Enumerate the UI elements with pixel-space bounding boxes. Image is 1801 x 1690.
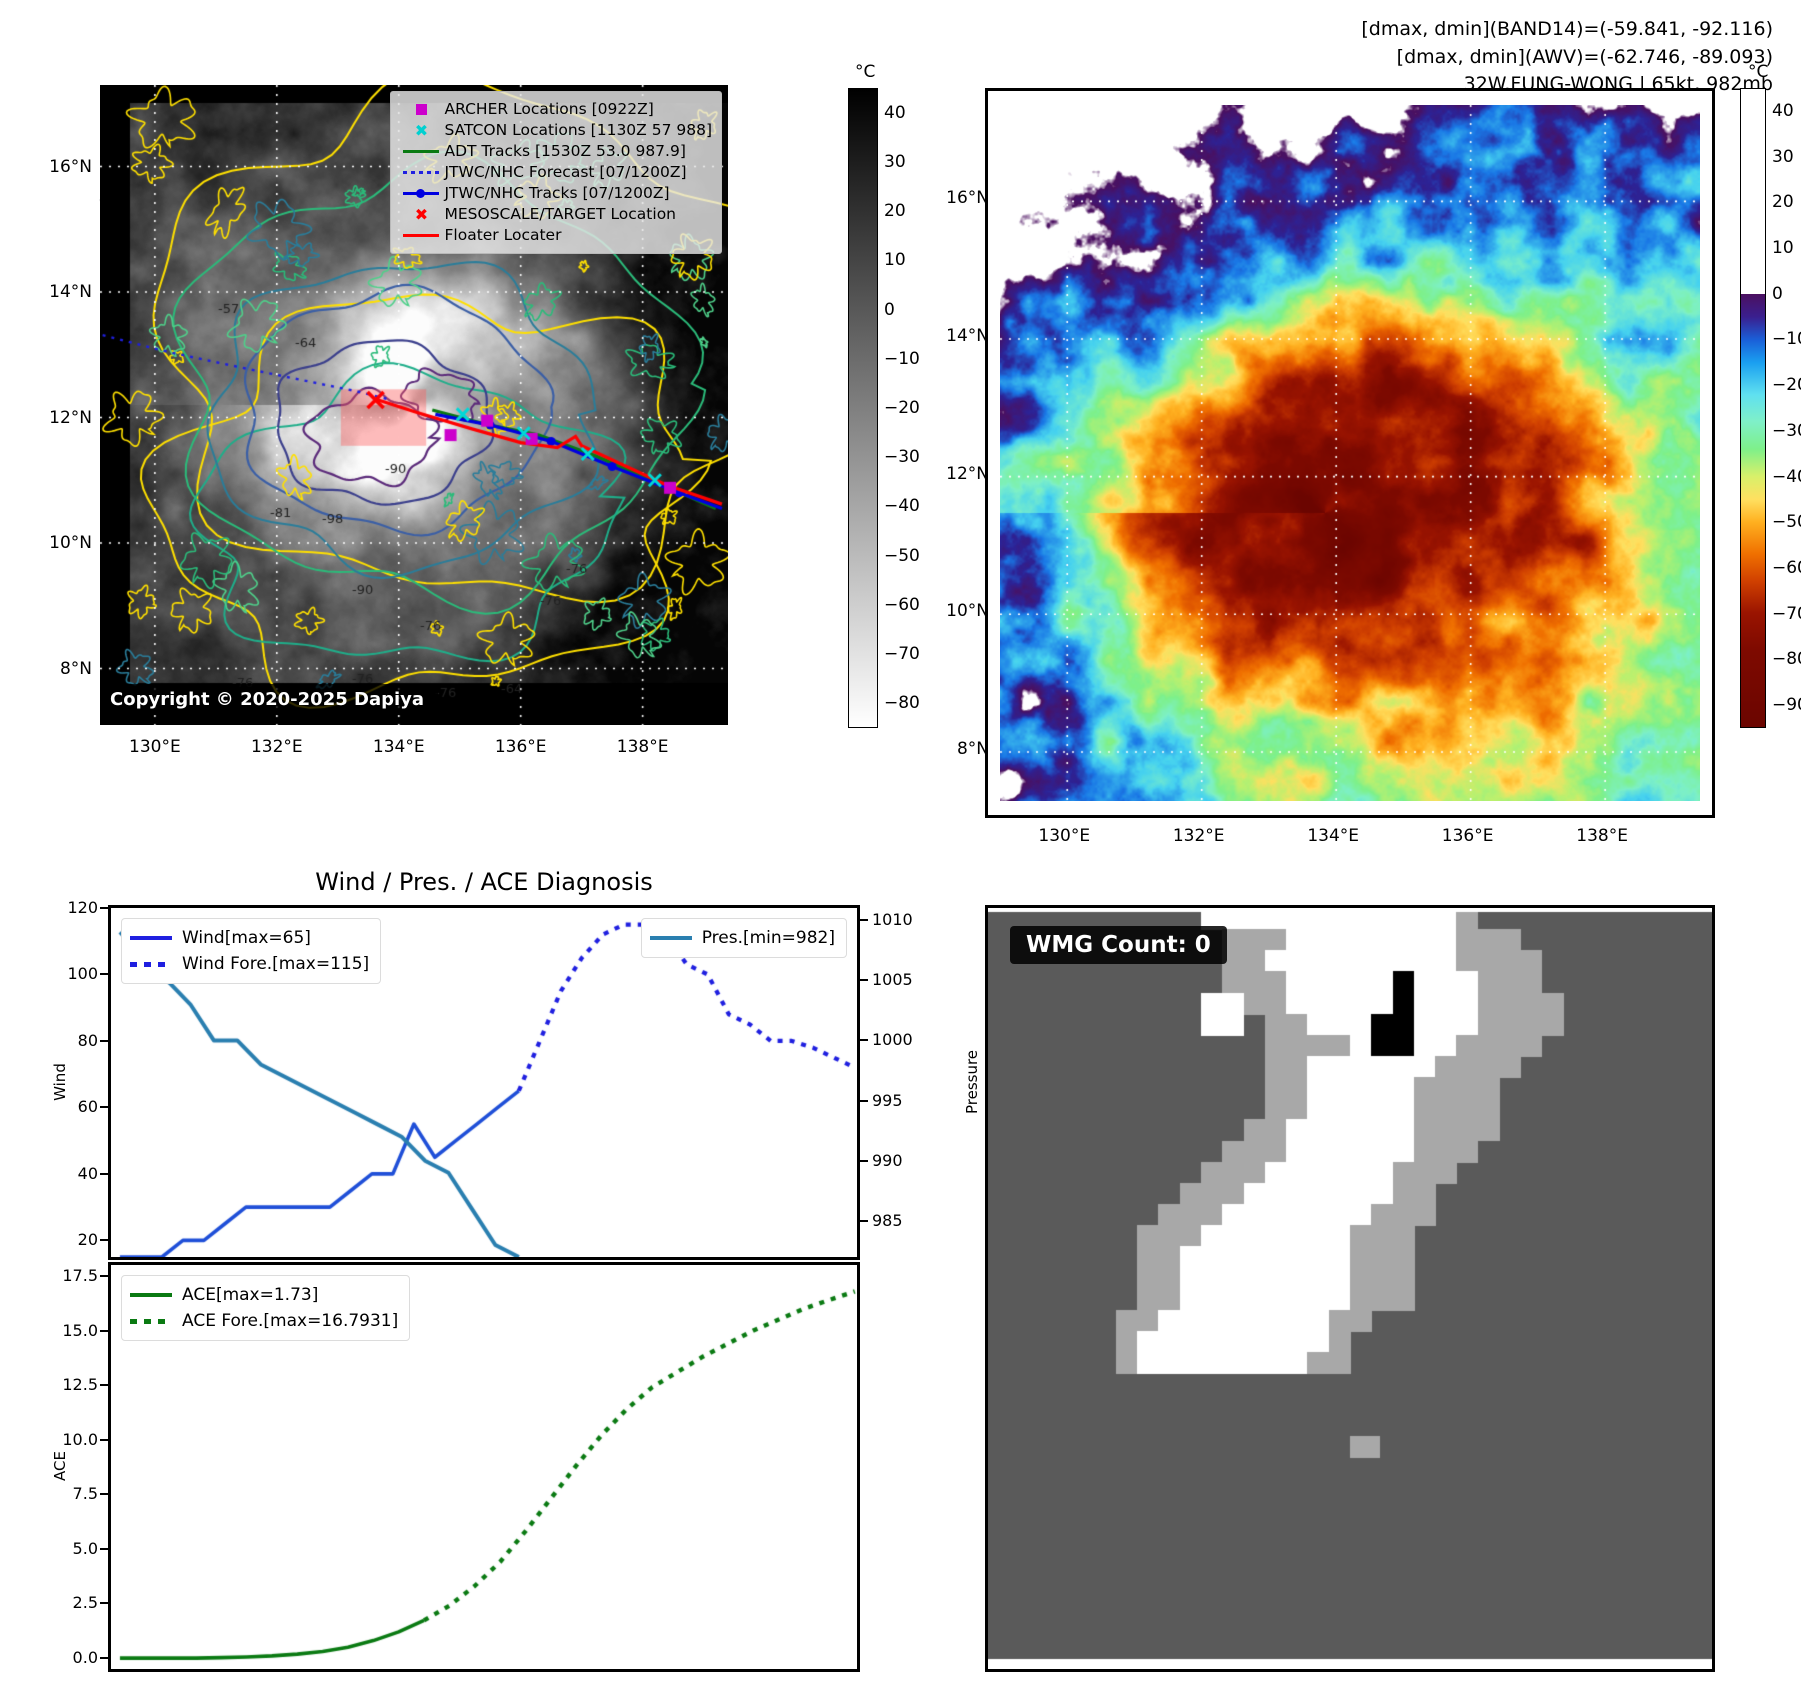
ace-y-tick: 15.0 bbox=[36, 1321, 98, 1340]
colorbar-tick: 30 bbox=[1772, 147, 1794, 167]
colorbar-tick: −10 bbox=[1772, 329, 1801, 349]
pressure-y-tickmark bbox=[858, 979, 868, 981]
legend-label: JTWC/NHC Forecast [07/1200Z] bbox=[444, 165, 686, 181]
ace-y-tickmark bbox=[100, 1602, 110, 1604]
color-colorbar bbox=[1740, 88, 1766, 728]
teal-solid-line-icon bbox=[650, 936, 702, 940]
legend-label: ARCHER Locations [0922Z] bbox=[444, 102, 653, 118]
legend-item-ace-forecast: ACE Fore.[max=16.7931] bbox=[130, 1308, 398, 1334]
ace-y-tickmark bbox=[100, 1384, 110, 1386]
wmg-count-badge: WMG Count: 0 bbox=[1010, 926, 1227, 964]
pressure-y-tick: 995 bbox=[872, 1091, 934, 1110]
wind-y-tickmark bbox=[100, 1239, 110, 1241]
pressure-y-tickmark bbox=[858, 1100, 868, 1102]
green-solid-line-icon bbox=[130, 1293, 182, 1297]
wind-y-tick: 120 bbox=[36, 898, 98, 917]
stats-awv: [dmax, dmin](AWV)=(-62.746, -89.093) bbox=[1361, 44, 1773, 72]
ace-y-tickmark bbox=[100, 1657, 110, 1659]
ace-y-tickmark bbox=[100, 1548, 110, 1550]
ace-y-tick: 0.0 bbox=[36, 1648, 98, 1667]
lat-tick-label: 8°N bbox=[22, 659, 92, 679]
colorbar-tick: −40 bbox=[1772, 467, 1801, 487]
pressure-y-tickmark bbox=[858, 919, 868, 921]
wind-chart-legend: Wind[max=65] Wind Fore.[max=115] bbox=[121, 918, 381, 984]
ace-chart[interactable]: ACE[max=1.73] ACE Fore.[max=16.7931] bbox=[108, 1262, 860, 1672]
wind-pressure-chart[interactable]: Wind[max=65] Wind Fore.[max=115] Pres.[m… bbox=[108, 905, 860, 1260]
wind-y-tickmark bbox=[100, 907, 110, 909]
ace-chart-legend: ACE[max=1.73] ACE Fore.[max=16.7931] bbox=[121, 1275, 410, 1341]
legend-item-satcon: ✖ SATCON Locations [1130Z 57 988] bbox=[398, 120, 712, 141]
colorbar-tick: −50 bbox=[884, 546, 920, 566]
colorbar-tick: −90 bbox=[1772, 695, 1801, 715]
stats-band14: [dmax, dmin](BAND14)=(-59.841, -92.116) bbox=[1361, 16, 1773, 44]
legend-item-floater: Floater Locater bbox=[398, 225, 712, 246]
legend-label: Pres.[min=982] bbox=[702, 930, 835, 947]
lat-tick-label: 16°N bbox=[22, 157, 92, 177]
colorbar-tick: −40 bbox=[884, 496, 920, 516]
colorbar-tick: −80 bbox=[1772, 649, 1801, 669]
awv-inner bbox=[1000, 105, 1700, 801]
pressure-chart-legend: Pres.[min=982] bbox=[641, 918, 847, 958]
colorbar-tick: −80 bbox=[884, 693, 920, 713]
ace-y-tick: 5.0 bbox=[36, 1539, 98, 1558]
legend-label: JTWC/NHC Tracks [07/1200Z] bbox=[444, 186, 669, 202]
wind-y-tick: 40 bbox=[36, 1164, 98, 1183]
legend-item-archer: ARCHER Locations [0922Z] bbox=[398, 99, 712, 120]
lon-tick-label: 134°E bbox=[1293, 826, 1373, 846]
legend-label: SATCON Locations [1130Z 57 988] bbox=[444, 123, 712, 139]
legend-item-ace: ACE[max=1.73] bbox=[130, 1282, 398, 1308]
green-dotted-line-icon bbox=[130, 1319, 182, 1324]
legend-label: Wind[max=65] bbox=[182, 930, 311, 947]
lat-tick-label: 10°N bbox=[919, 601, 989, 621]
ace-y-tickmark bbox=[100, 1439, 110, 1441]
copyright-notice: Copyright © 2020-2025 Dapiya bbox=[100, 684, 438, 715]
wind-y-tick: 100 bbox=[36, 964, 98, 983]
colorbar-tick: 0 bbox=[884, 300, 895, 320]
ace-y-tickmark bbox=[100, 1493, 110, 1495]
lon-tick-label: 130°E bbox=[1024, 826, 1104, 846]
pressure-axis-label: Pressure bbox=[963, 1022, 981, 1142]
legend-item-adt: ADT Tracks [1530Z 53.0 987.9] bbox=[398, 141, 712, 162]
lat-tick-label: 16°N bbox=[919, 188, 989, 208]
colorbar-tick: −60 bbox=[1772, 558, 1801, 578]
colorbar-tick: −20 bbox=[1772, 375, 1801, 395]
legend-item-pressure: Pres.[min=982] bbox=[650, 925, 835, 951]
color-colorbar-unit: °C bbox=[1748, 62, 1768, 82]
colorbar-tick: 0 bbox=[1772, 284, 1783, 304]
blue-dotted-line-icon bbox=[398, 171, 444, 174]
lon-tick-label: 138°E bbox=[1562, 826, 1642, 846]
ace-y-tick: 2.5 bbox=[36, 1593, 98, 1612]
awv-satellite-map[interactable] bbox=[985, 88, 1715, 818]
lat-tick-label: 12°N bbox=[22, 408, 92, 428]
colorbar-tick: 40 bbox=[884, 103, 906, 123]
colorbar-tick: 20 bbox=[884, 201, 906, 221]
lon-tick-label: 138°E bbox=[603, 737, 683, 757]
blue-solid-line-icon bbox=[130, 936, 182, 940]
legend-item-mesoscale: ✖ MESOSCALE/TARGET Location bbox=[398, 204, 712, 225]
lat-tick-label: 14°N bbox=[22, 282, 92, 302]
wind-pres-ace-title: Wind / Pres. / ACE Diagnosis bbox=[108, 868, 860, 896]
lon-tick-label: 136°E bbox=[481, 737, 561, 757]
wind-y-tickmark bbox=[100, 1106, 110, 1108]
pressure-y-tickmark bbox=[858, 1039, 868, 1041]
blue-dotted-line-icon bbox=[130, 962, 182, 967]
legend-item-jtwc-tracks: JTWC/NHC Tracks [07/1200Z] bbox=[398, 183, 712, 204]
grey-colorbar-unit: °C bbox=[855, 62, 875, 82]
colorbar-tick: 30 bbox=[884, 152, 906, 172]
ace-y-tick: 12.5 bbox=[36, 1375, 98, 1394]
wind-axis-label: Wind bbox=[51, 1022, 69, 1142]
legend-item-forecast: JTWC/NHC Forecast [07/1200Z] bbox=[398, 162, 712, 183]
ace-axis-label: ACE bbox=[51, 1406, 69, 1526]
stats-header: [dmax, dmin](BAND14)=(-59.841, -92.116) … bbox=[1361, 16, 1773, 99]
lon-tick-label: 134°E bbox=[359, 737, 439, 757]
ir-satellite-map[interactable]: ARCHER Locations [0922Z] ✖ SATCON Locati… bbox=[100, 85, 728, 725]
green-solid-line-icon bbox=[398, 150, 444, 153]
pressure-y-tick: 1000 bbox=[872, 1030, 934, 1049]
legend-label: ACE[max=1.73] bbox=[182, 1287, 318, 1304]
colorbar-tick: 20 bbox=[1772, 192, 1794, 212]
colorbar-tick: −70 bbox=[1772, 604, 1801, 624]
wind-y-tickmark bbox=[100, 1173, 110, 1175]
colorbar-tick: −10 bbox=[884, 349, 920, 369]
lat-tick-label: 10°N bbox=[22, 533, 92, 553]
pressure-y-tickmark bbox=[858, 1160, 868, 1162]
lat-tick-label: 14°N bbox=[919, 326, 989, 346]
wmg-panel[interactable]: WMG Count: 0 bbox=[985, 905, 1715, 1672]
legend-item-wind: Wind[max=65] bbox=[130, 925, 369, 951]
wind-y-tickmark bbox=[100, 1040, 110, 1042]
colorbar-tick: 10 bbox=[884, 250, 906, 270]
ace-y-tickmark bbox=[100, 1330, 110, 1332]
pressure-y-tick: 990 bbox=[872, 1151, 934, 1170]
legend-item-wind-forecast: Wind Fore.[max=115] bbox=[130, 951, 369, 977]
lon-tick-label: 136°E bbox=[1428, 826, 1508, 846]
colorbar-tick: −30 bbox=[1772, 421, 1801, 441]
colorbar-tick: −20 bbox=[884, 398, 920, 418]
wind-y-tickmark bbox=[100, 973, 110, 975]
legend-label: ADT Tracks [1530Z 53.0 987.9] bbox=[444, 144, 685, 160]
blue-line-dot-marker-icon bbox=[398, 192, 444, 195]
pressure-y-tick: 985 bbox=[872, 1211, 934, 1230]
legend-label: MESOSCALE/TARGET Location bbox=[444, 207, 676, 223]
lon-tick-label: 130°E bbox=[115, 737, 195, 757]
red-x-marker-icon: ✖ bbox=[398, 207, 444, 223]
pressure-y-tick: 1010 bbox=[872, 910, 934, 929]
colorbar-tick: −60 bbox=[884, 595, 920, 615]
colorbar-tick: 40 bbox=[1772, 101, 1794, 121]
lon-tick-label: 132°E bbox=[237, 737, 317, 757]
lat-tick-label: 8°N bbox=[919, 739, 989, 759]
lat-tick-label: 12°N bbox=[919, 464, 989, 484]
wmg-grid-canvas bbox=[988, 908, 1712, 1669]
ace-y-tickmark bbox=[100, 1275, 110, 1277]
dashboard-root: HIMAWARI-8 BAND14-DIAS TARGET AREA Time:… bbox=[0, 0, 1801, 1690]
pressure-y-tick: 1005 bbox=[872, 970, 934, 989]
colorbar-tick: 10 bbox=[1772, 238, 1794, 258]
legend-label: Floater Locater bbox=[444, 228, 561, 244]
legend-label: Wind Fore.[max=115] bbox=[182, 956, 369, 973]
wind-y-tick: 20 bbox=[36, 1230, 98, 1249]
awv-imagery-canvas bbox=[1000, 105, 1700, 801]
lon-tick-label: 132°E bbox=[1159, 826, 1239, 846]
pressure-y-tickmark bbox=[858, 1220, 868, 1222]
ace-y-tick: 17.5 bbox=[36, 1266, 98, 1285]
colorbar-tick: −30 bbox=[884, 447, 920, 467]
grey-colorbar bbox=[848, 88, 878, 728]
red-solid-line-icon bbox=[398, 234, 444, 237]
legend-label: ACE Fore.[max=16.7931] bbox=[182, 1313, 398, 1330]
colorbar-tick: −50 bbox=[1772, 512, 1801, 532]
colorbar-tick: −70 bbox=[884, 644, 920, 664]
ir-map-legend: ARCHER Locations [0922Z] ✖ SATCON Locati… bbox=[390, 91, 722, 254]
magenta-square-marker-icon bbox=[398, 104, 444, 115]
cyan-x-marker-icon: ✖ bbox=[398, 123, 444, 139]
